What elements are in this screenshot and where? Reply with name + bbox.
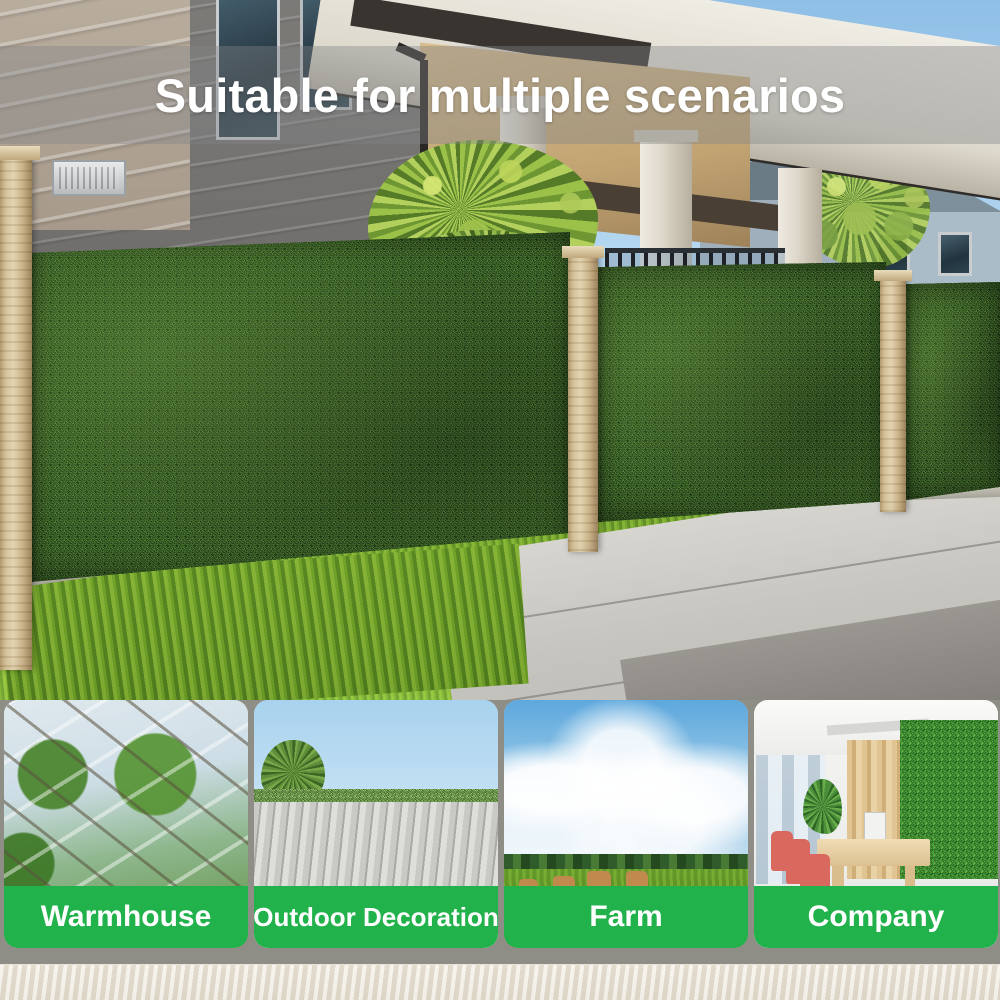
hedge-panel-middle (598, 262, 886, 522)
air-conditioner-unit (52, 160, 126, 196)
thumb2-wooden-deck (254, 802, 498, 886)
scenario-label-company: Company (754, 886, 998, 948)
scenario-label-warmhouse: Warmhouse (4, 886, 248, 948)
hedge-panel-left (30, 232, 570, 582)
hero-photo: Suitable for multiple scenarios (0, 0, 1000, 700)
thumb3-clouds (504, 700, 748, 869)
scenario-card-company[interactable]: Company (754, 700, 998, 948)
scenario-label-text-outdoor-decoration: Outdoor Decoration (254, 902, 498, 933)
fence-post-left-cap (0, 146, 40, 160)
hedge-panel-right (906, 282, 1000, 500)
scenario-label-outdoor-decoration: Outdoor Decoration (254, 886, 498, 948)
fence-post-middle (568, 252, 598, 552)
scenario-card-warmhouse[interactable]: Warmhouse (4, 700, 248, 948)
fence-post-left (0, 152, 32, 670)
scenario-label-text-farm: Farm (589, 900, 662, 934)
scenario-label-text-company: Company (808, 900, 945, 934)
fence-post-right (880, 276, 906, 512)
scenario-card-farm[interactable]: Farm (504, 700, 748, 948)
product-marketing-image: Suitable for multiple scenarios Warmhous… (0, 0, 1000, 1000)
scenario-label-farm: Farm (504, 886, 748, 948)
hedge-shading-left (30, 232, 570, 582)
page-title: Suitable for multiple scenarios (155, 68, 845, 123)
fence-post-right-cap (874, 270, 912, 281)
title-banner: Suitable for multiple scenarios (0, 46, 1000, 144)
hedge-shading-middle (598, 262, 886, 522)
scenario-card-outdoor-decoration[interactable]: Outdoor Decoration (254, 700, 498, 948)
scenario-label-text-warmhouse: Warmhouse (41, 900, 212, 934)
thumb4-potted-plant (803, 779, 842, 834)
thumb4-conference-table (817, 839, 929, 866)
neighbour-window-2 (938, 232, 972, 276)
fence-post-middle-cap (562, 246, 604, 258)
hedge-shading-right (906, 282, 1000, 500)
strip-floor-texture (0, 965, 1000, 1000)
